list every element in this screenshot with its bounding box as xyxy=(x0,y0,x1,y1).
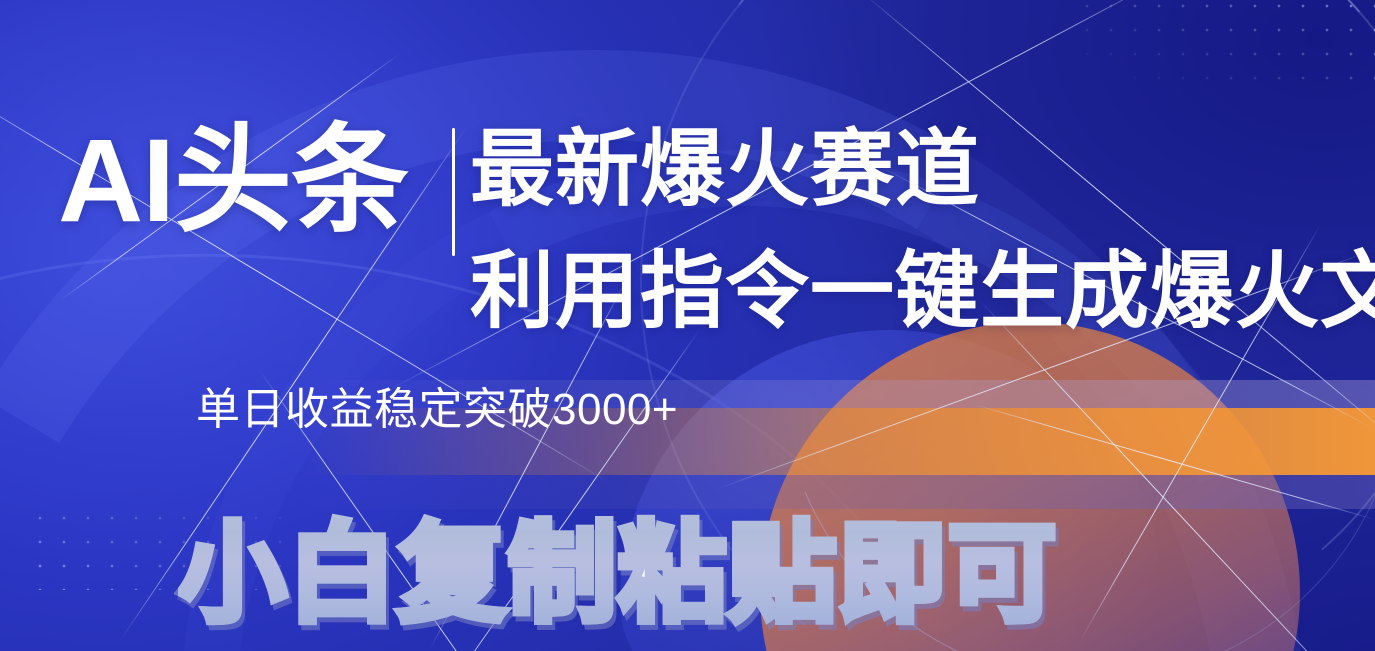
subtitle-earnings: 单日收益稳定突破3000+ xyxy=(196,386,678,434)
brand-divider xyxy=(452,128,455,256)
dot-grid-top-right xyxy=(1075,0,1375,86)
headline-line-2: 利用指令一键生成爆火文章 xyxy=(470,246,1375,337)
brand-title: AI头条 xyxy=(58,118,408,245)
tagline-text: 小白复制粘贴即可 xyxy=(178,513,1058,634)
headline-line-1: 最新爆火赛道 xyxy=(470,124,980,215)
promo-banner: AI头条 最新爆火赛道 利用指令一键生成爆火文章 单日收益稳定突破3000+ 小… xyxy=(0,0,1375,651)
tagline-container: 小白复制粘贴即可 xyxy=(178,516,1058,633)
